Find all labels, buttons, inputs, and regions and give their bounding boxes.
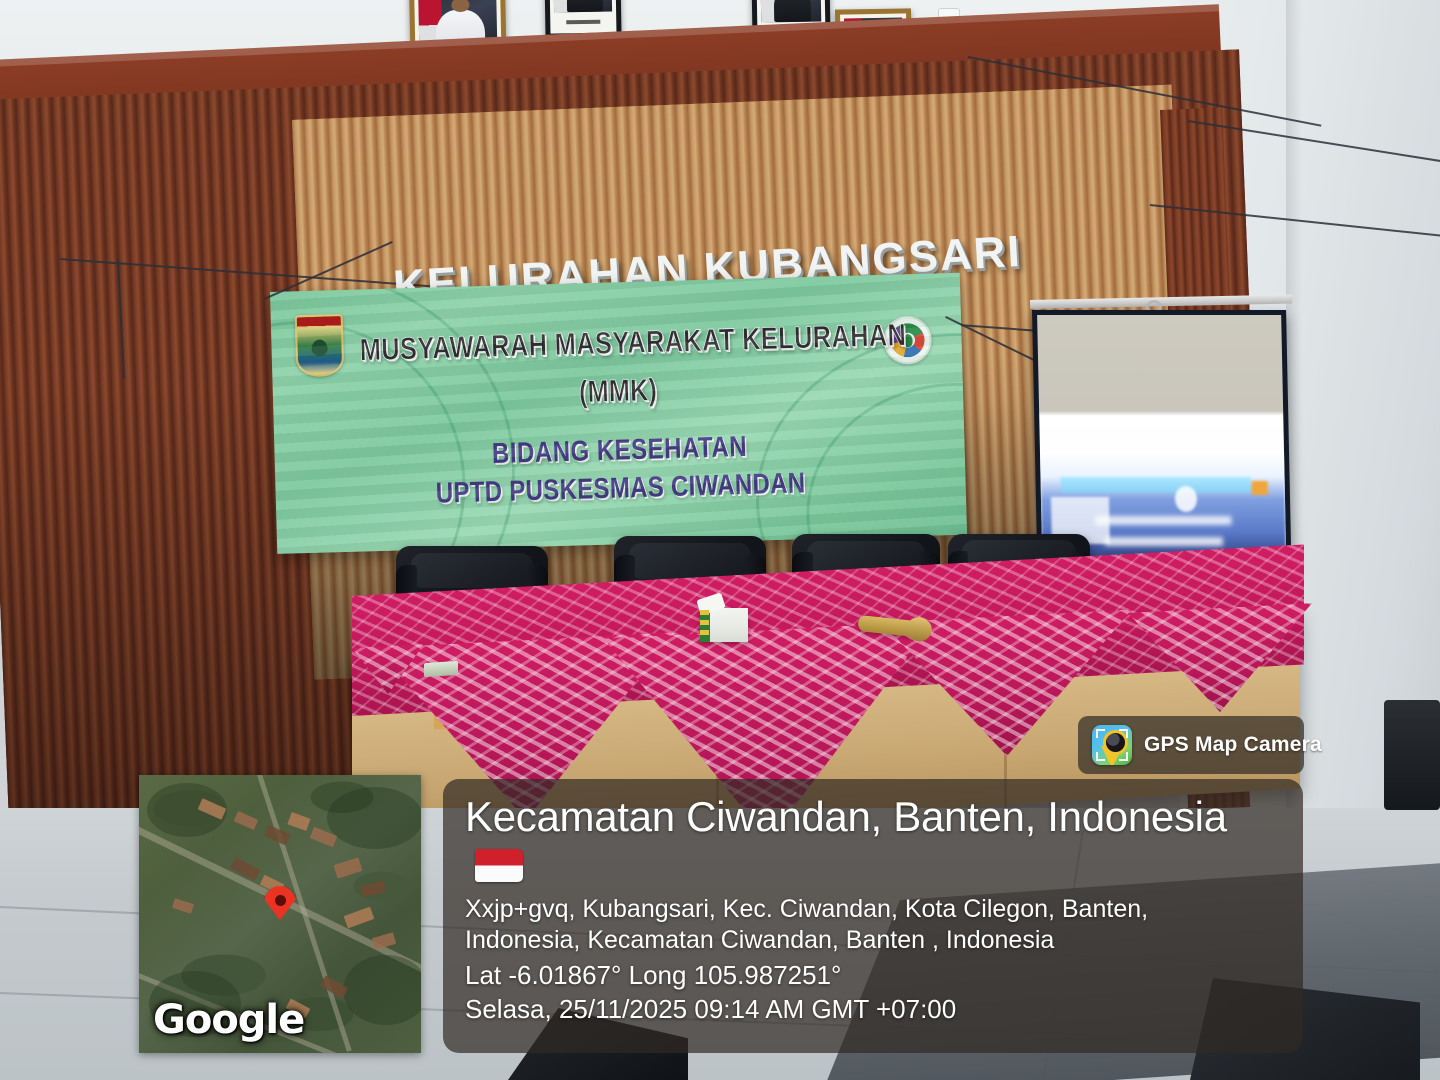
event-banner: MUSYAWARAH MASYARAKAT KELURAHAN (MMK) BI… (270, 273, 967, 554)
location-address: Xxjp+gvq, Kubangsari, Kec. Ciwandan, Kot… (465, 894, 1281, 955)
slide-band (1060, 477, 1251, 493)
gps-map-camera-badge: GPS Map Camera (1078, 716, 1304, 774)
map-vegetation (327, 787, 421, 849)
portrait-figure (566, 0, 602, 12)
projector-screen (1032, 310, 1292, 572)
location-coordinates: Lat -6.01867° Long 105.987251° (465, 960, 1281, 991)
map-building (344, 907, 375, 929)
viewfinder-corner-bl (1096, 752, 1105, 761)
projector-screen-surface (1037, 315, 1286, 567)
gps-camera-photo: KELURAHAN KUBANGSARI MUSYAWARAH MASYARAK… (0, 0, 1440, 1080)
map-building (172, 898, 194, 914)
portrait-photo (554, 0, 613, 13)
gps-map-camera-icon (1092, 725, 1132, 765)
slide-text-line-1 (1095, 516, 1232, 525)
viewfinder-corner-br (1119, 752, 1128, 761)
slide-accent (1252, 481, 1268, 495)
indonesia-flag-emoji (475, 849, 523, 882)
speaker-cabinet (1384, 700, 1440, 810)
chair-headrest (629, 543, 751, 579)
capture-timestamp: Selasa, 25/11/2025 09:14 AM GMT +07:00 (465, 994, 1281, 1025)
map-building (372, 932, 396, 950)
calculator (424, 661, 458, 677)
map-building (287, 812, 310, 831)
map-vegetation (343, 955, 421, 1025)
map-building (264, 825, 291, 846)
viewfinder-corner-tr (1119, 729, 1128, 738)
portrait-photo (760, 0, 821, 23)
address-line-2: Indonesia, Kecamatan Ciwandan, Banten , … (465, 925, 1281, 956)
slide-avatar (1175, 486, 1198, 512)
chair-headrest (411, 553, 533, 588)
slide-text-line-2 (1105, 537, 1222, 546)
google-watermark: Google (153, 997, 304, 1043)
city-crest-icon (295, 314, 345, 377)
map-building (360, 880, 386, 897)
portrait-caption-line (567, 20, 601, 25)
tissue-box (700, 608, 748, 642)
map-thumbnail[interactable]: Google (139, 775, 421, 1053)
address-line-1: Xxjp+gvq, Kubangsari, Kec. Ciwandan, Kot… (465, 894, 1281, 925)
location-info-panel: Kecamatan Ciwandan, Banten, Indonesia Xx… (443, 779, 1303, 1053)
location-title: Kecamatan Ciwandan, Banten, Indonesia (465, 793, 1281, 887)
map-building (333, 857, 362, 878)
location-title-text: Kecamatan Ciwandan, Banten, Indonesia (465, 793, 1227, 840)
portrait-figure (774, 0, 812, 22)
map-building (234, 811, 259, 830)
map-pin-icon (263, 886, 297, 920)
gps-map-camera-label: GPS Map Camera (1144, 733, 1322, 757)
viewfinder-corner-tl (1096, 729, 1105, 738)
